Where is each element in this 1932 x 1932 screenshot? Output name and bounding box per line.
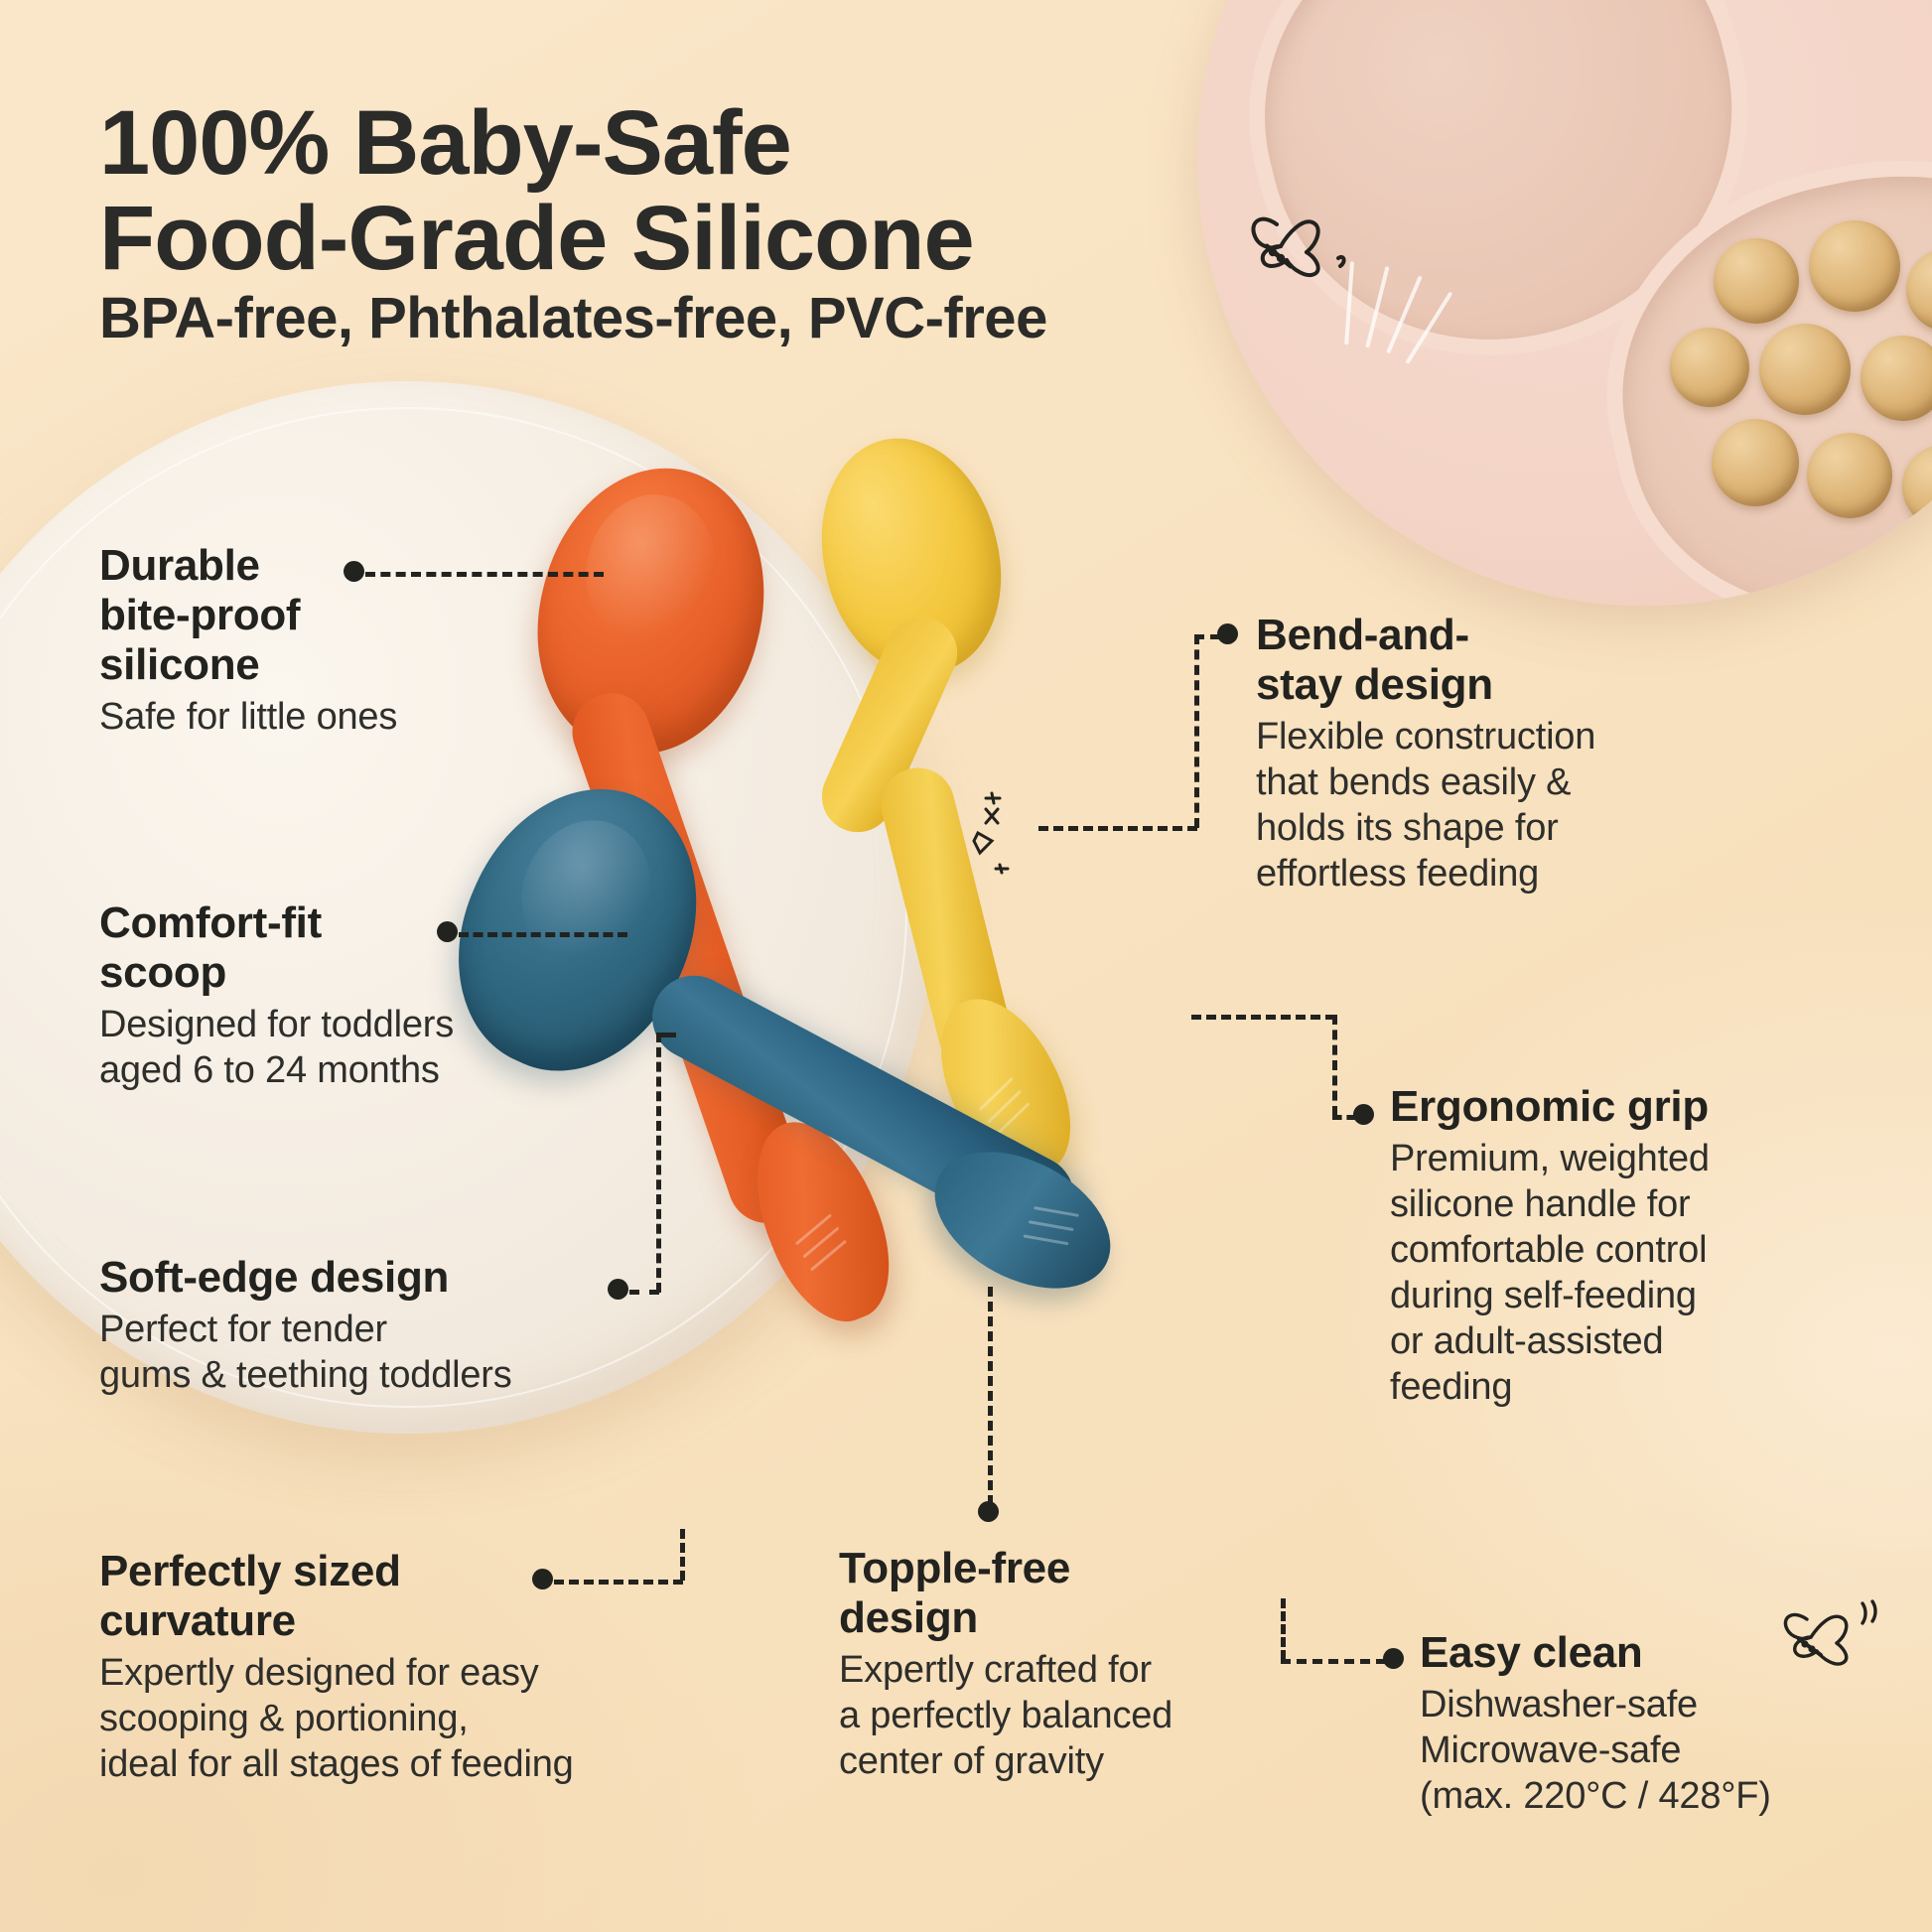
title-line-2: Food-Grade Silicone xyxy=(99,191,1112,286)
body-line: or adult-assisted xyxy=(1390,1318,1866,1364)
callout-ergonomic-grip: Ergonomic grip Premium, weighted silicon… xyxy=(1390,1082,1866,1410)
body-line: aged 6 to 24 months xyxy=(99,1047,566,1093)
body-line: Premium, weighted xyxy=(1390,1136,1866,1181)
body-line: scooping & portioning, xyxy=(99,1696,715,1741)
callout-heading: Comfort-fit scoop xyxy=(99,898,566,998)
heading-line: Ergonomic grip xyxy=(1390,1082,1866,1132)
callout-body: Safe for little ones xyxy=(99,694,566,740)
connector-line xyxy=(1281,1598,1286,1660)
connector-dot xyxy=(1217,623,1238,644)
callout-heading: Ergonomic grip xyxy=(1390,1082,1866,1132)
heading-line: bite-proof xyxy=(99,591,566,640)
title-line-1: 100% Baby-Safe xyxy=(99,95,1112,191)
callout-heading: Bend-and- stay design xyxy=(1256,611,1703,710)
callout-heading: Topple-free design xyxy=(839,1544,1256,1643)
connector-dot xyxy=(1383,1648,1404,1669)
cereal-puff xyxy=(1759,324,1851,415)
cereal-puff xyxy=(1670,328,1749,407)
cereal-puff xyxy=(1712,419,1799,506)
callout-body: Premium, weighted silicone handle for co… xyxy=(1390,1136,1866,1410)
callout-body: Perfect for tender gums & teething toddl… xyxy=(99,1307,616,1398)
body-line: feeding xyxy=(1390,1364,1866,1410)
callout-soft-edge-design: Soft-edge design Perfect for tender gums… xyxy=(99,1253,616,1398)
callout-bend-and-stay-design: Bend-and- stay design Flexible construct… xyxy=(1256,611,1703,897)
connector-dot xyxy=(608,1279,628,1300)
connector-dot xyxy=(1353,1104,1374,1125)
heading-line: Durable xyxy=(99,541,566,591)
heading-line: Perfectly sized xyxy=(99,1547,715,1596)
body-line: Flexible construction xyxy=(1256,714,1703,759)
cereal-puff xyxy=(1809,220,1900,312)
page-title: 100% Baby-Safe Food-Grade Silicone xyxy=(99,95,1112,286)
connector-line xyxy=(656,1033,661,1293)
heading-line: Topple-free xyxy=(839,1544,1256,1593)
body-line-temperature: (max. 220°C / 428°F) xyxy=(1420,1773,1886,1819)
body-line: a perfectly balanced xyxy=(839,1693,1256,1738)
callout-heading: Soft-edge design xyxy=(99,1253,616,1303)
connector-line xyxy=(554,1580,683,1585)
connector-line xyxy=(1332,1015,1337,1116)
body-line: ideal for all stages of feeding xyxy=(99,1741,715,1787)
callout-heading: Durable bite-proof silicone xyxy=(99,541,566,690)
page-subtitle: BPA-free, Phthalates-free, PVC-free xyxy=(99,286,1191,351)
body-line: holds its shape for xyxy=(1256,805,1703,851)
connector-dot xyxy=(344,561,364,582)
callout-topple-free-design: Topple-free design Expertly crafted for … xyxy=(839,1544,1256,1784)
connector-line xyxy=(1191,1015,1335,1020)
connector-line xyxy=(629,1290,659,1295)
butterfly-doodle xyxy=(1231,197,1360,306)
connector-line xyxy=(459,932,627,937)
connector-line xyxy=(680,1529,685,1581)
connector-dot xyxy=(532,1569,553,1589)
callout-body: Dishwasher-safe Microwave-safe (max. 220… xyxy=(1420,1682,1886,1819)
callout-body: Designed for toddlers aged 6 to 24 month… xyxy=(99,1002,566,1093)
grip-grooves-icon xyxy=(1007,1198,1101,1287)
body-line: Perfect for tender xyxy=(99,1307,616,1352)
body-line: Expertly designed for easy xyxy=(99,1650,715,1696)
callout-heading: Perfectly sized curvature xyxy=(99,1547,715,1646)
heading-line: scoop xyxy=(99,948,566,998)
body-line: Designed for toddlers xyxy=(99,1002,566,1047)
butterfly-doodle xyxy=(1767,1593,1886,1693)
connector-line xyxy=(656,1033,676,1037)
heading-line: stay design xyxy=(1256,660,1703,710)
connector-line xyxy=(988,1287,993,1505)
cereal-puff xyxy=(1807,433,1892,518)
callout-body: Expertly designed for easy scooping & po… xyxy=(99,1650,715,1787)
connector-line xyxy=(1281,1659,1386,1664)
body-line: Microwave-safe xyxy=(1420,1727,1886,1773)
heading-line: design xyxy=(839,1593,1256,1643)
body-line: Expertly crafted for xyxy=(839,1647,1256,1693)
callout-body: Flexible construction that bends easily … xyxy=(1256,714,1703,897)
body-line: comfortable control xyxy=(1390,1227,1866,1273)
body-line: that bends easily & xyxy=(1256,759,1703,805)
callout-durable-bite-proof-silicone: Durable bite-proof silicone Safe for lit… xyxy=(99,541,566,740)
body-line: effortless feeding xyxy=(1256,851,1703,897)
body-line: during self-feeding xyxy=(1390,1273,1866,1318)
infographic-canvas: 100% Baby-Safe Food-Grade Silicone BPA-f… xyxy=(0,0,1932,1932)
connector-line xyxy=(365,572,604,577)
connector-dot xyxy=(437,921,458,942)
heading-line: Soft-edge design xyxy=(99,1253,616,1303)
body-line: silicone handle for xyxy=(1390,1181,1866,1227)
callout-comfort-fit-scoop: Comfort-fit scoop Designed for toddlers … xyxy=(99,898,566,1093)
callout-body: Expertly crafted for a perfectly balance… xyxy=(839,1647,1256,1784)
connector-line xyxy=(1038,826,1197,831)
heading-line: Comfort-fit xyxy=(99,898,566,948)
body-line: gums & teething toddlers xyxy=(99,1352,616,1398)
heading-line: curvature xyxy=(99,1596,715,1646)
sparkle-doodle xyxy=(948,769,1037,889)
heading-line: silicone xyxy=(99,640,566,690)
heading-line: Bend-and- xyxy=(1256,611,1703,660)
connector-line xyxy=(1194,634,1199,828)
cereal-puff xyxy=(1714,238,1799,324)
body-line: center of gravity xyxy=(839,1738,1256,1784)
